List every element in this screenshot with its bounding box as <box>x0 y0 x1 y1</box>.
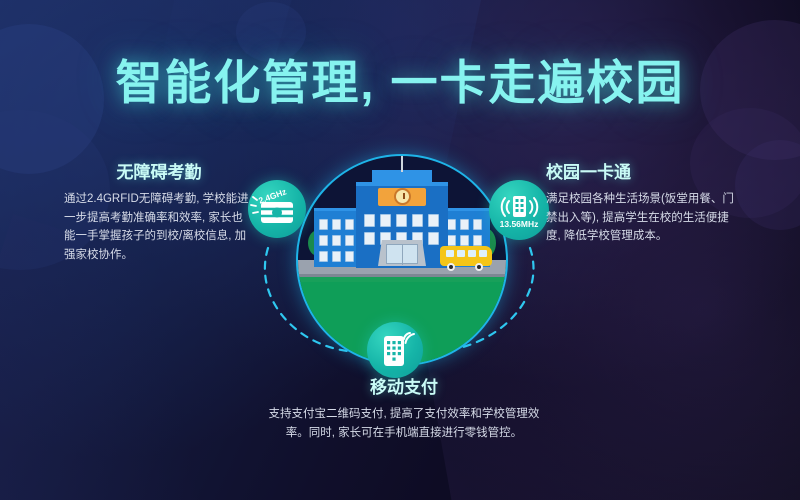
school-bus-icon <box>440 246 492 266</box>
feature-block-attendance: 无障碍考勤 通过2.4GRFID无障碍考勤, 学校能进一步提高考勤准确率和效率,… <box>64 158 254 265</box>
feature-heading-mobile-payment: 移动支付 <box>258 373 550 398</box>
page-title: 智能化管理, 一卡走遍校园 <box>0 44 800 113</box>
building-left-wing <box>314 208 362 267</box>
badge-nfc-1356mhz[interactable]: 13.56MHz <box>489 180 549 240</box>
badge-mobile-payment[interactable] <box>367 322 423 378</box>
feature-body-campus-card: 满足校园各种生活场景(饭堂用餐、门禁出入等), 提高学生在校的生活便捷度, 降低… <box>546 190 738 246</box>
road-edge <box>296 274 508 277</box>
background-bokeh <box>735 140 800 230</box>
feature-body-attendance: 通过2.4GRFID无障碍考勤, 学校能进一步提高考勤准确率和效率, 家长也能一… <box>64 190 254 265</box>
feature-block-campus-card: 校园一卡通 满足校园各种生活场景(饭堂用餐、门禁出入等), 提高学生在校的生活便… <box>546 158 738 246</box>
clock-icon <box>394 188 411 205</box>
building-door <box>386 244 418 264</box>
flagpole <box>401 154 403 172</box>
feature-heading-campus-card: 校园一卡通 <box>546 158 738 183</box>
phone-nfc-icon <box>367 322 423 378</box>
feature-body-mobile-payment: 支持支付宝二维码支付, 提高了支付效率和学校管理效率。同时, 家长可在手机端直接… <box>258 405 550 442</box>
building-roof-box <box>372 170 432 184</box>
nfc-card-icon <box>489 180 549 240</box>
badge-label-1356mhz: 13.56MHz <box>489 219 549 229</box>
slide-canvas: 智能化管理, 一卡走遍校园 <box>0 0 800 500</box>
feature-heading-attendance: 无障碍考勤 <box>64 158 254 183</box>
badge-rfid-24ghz[interactable]: 2.4GHz <box>248 180 306 238</box>
feature-block-mobile-payment: 移动支付 支持支付宝二维码支付, 提高了支付效率和学校管理效率。同时, 家长可在… <box>258 373 550 442</box>
